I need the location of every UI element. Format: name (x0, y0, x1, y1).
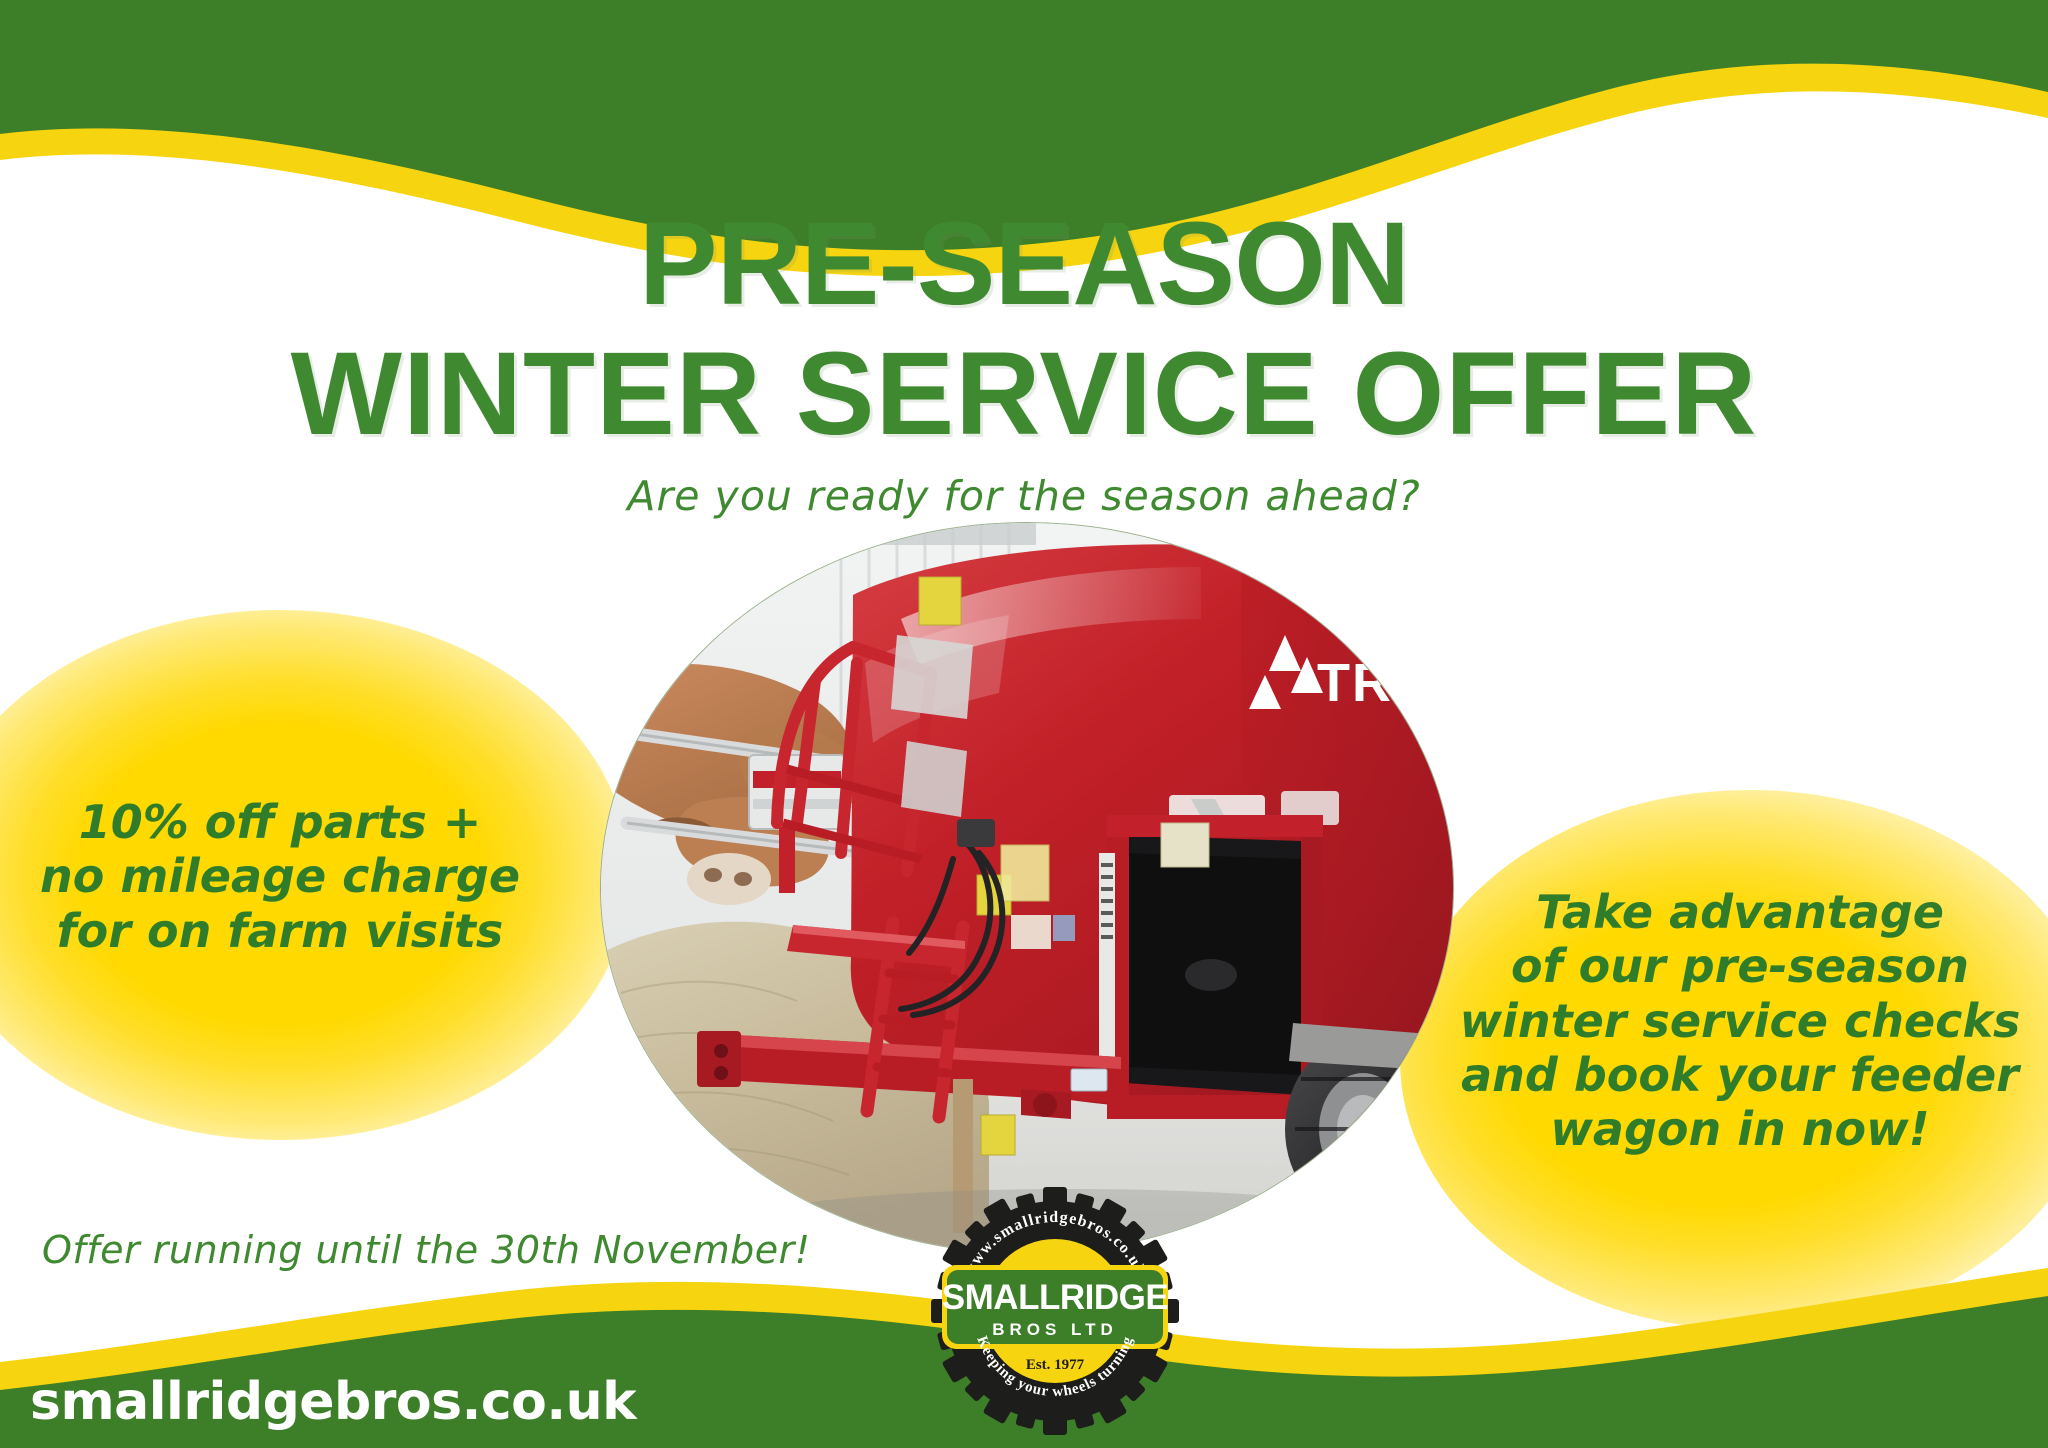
offer-deadline-text: Offer running until the 30th November! (42, 1228, 811, 1272)
feeder-wagon-photo: TRIOLIET (601, 523, 1453, 1253)
svg-text:TRIOLIET: TRIOLIET (1317, 653, 1453, 713)
poster-canvas: TRIOLIET (0, 0, 2048, 1448)
headline-line-1: PRE-SEASON (0, 205, 2048, 323)
promo-left-line-3: for on farm visits (20, 904, 540, 958)
promo-right-line-4: and book your feeder (1455, 1048, 2025, 1102)
logo-company-suffix: BROS LTD (992, 1320, 1118, 1339)
promo-right-line-2: of our pre-season (1455, 939, 2025, 993)
promo-right-line-3: winter service checks (1455, 994, 2025, 1048)
headline-line-2: WINTER SERVICE OFFER (0, 335, 2048, 453)
promo-right-block: Take advantage of our pre-season winter … (1455, 885, 2025, 1156)
smallridge-bros-logo[interactable]: www.smallridgebros.co.uk SMALLRIDGE BROS… (930, 1183, 1180, 1438)
footer-website-url[interactable]: smallridgebros.co.uk (30, 1372, 636, 1432)
logo-company-name: SMALLRIDGE (942, 1278, 1168, 1317)
subheading: Are you ready for the season ahead? (0, 472, 2048, 520)
promo-left-block: 10% off parts + no mileage charge for on… (20, 795, 540, 958)
headline-block: PRE-SEASON WINTER SERVICE OFFER (0, 205, 2048, 453)
promo-right-line-1: Take advantage (1455, 885, 2025, 939)
promo-left-line-1: 10% off parts + (20, 795, 540, 849)
promo-left-line-2: no mileage charge (20, 849, 540, 903)
logo-established-text: Est. 1977 (1026, 1357, 1085, 1373)
promo-right-line-5: wagon in now! (1455, 1102, 2025, 1156)
product-photo-circle: TRIOLIET (600, 522, 1454, 1254)
logo-name-banner: SMALLRIDGE BROS LTD (942, 1265, 1168, 1349)
